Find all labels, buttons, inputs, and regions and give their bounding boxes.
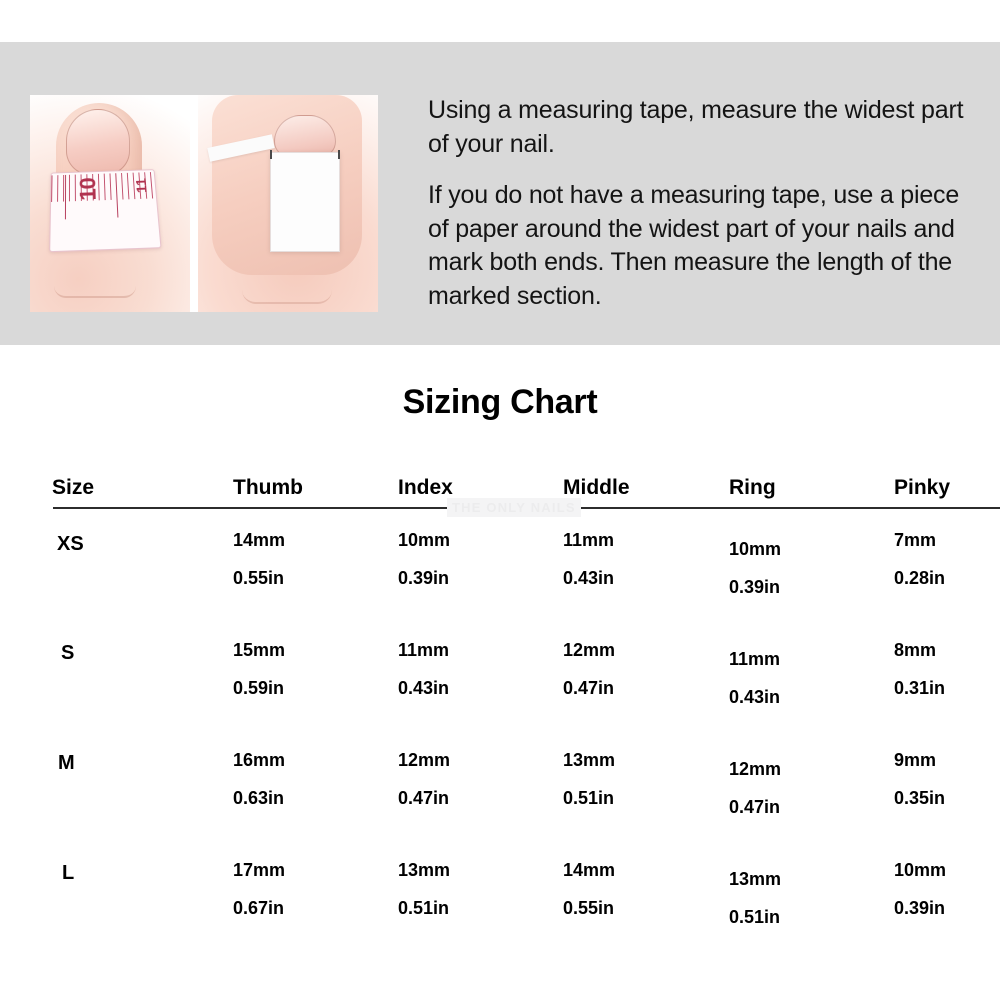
column-header-index: Index (398, 476, 453, 500)
cell-xs-middle-in: 0.43in (563, 568, 614, 589)
column-header-size: Size (52, 476, 94, 500)
cell-s-thumb-in: 0.59in (233, 678, 284, 699)
cell-m-middle-in: 0.51in (563, 788, 614, 809)
paper-mark-right (338, 150, 340, 159)
cell-m-thumb-mm: 16mm (233, 750, 285, 771)
cell-l-pinky-in: 0.39in (894, 898, 945, 919)
cell-m-ring-mm: 12mm (729, 759, 781, 780)
column-header-pinky: Pinky (894, 476, 950, 500)
row-label-m: M (58, 752, 75, 775)
cell-l-ring-in: 0.51in (729, 907, 780, 928)
knuckle-crease (54, 286, 136, 298)
tape-number-secondary-label: 11 (133, 178, 151, 194)
cell-m-index-in: 0.47in (398, 788, 449, 809)
column-header-thumb: Thumb (233, 476, 303, 500)
cell-s-middle-in: 0.47in (563, 678, 614, 699)
photo-right-panel-paper (198, 95, 378, 312)
tape-number-label: 10 (75, 178, 102, 201)
cell-s-ring-in: 0.43in (729, 687, 780, 708)
cell-m-index-mm: 12mm (398, 750, 450, 771)
cell-xs-index-mm: 10mm (398, 530, 450, 551)
cell-l-thumb-mm: 17mm (233, 860, 285, 881)
tape-major-tick (65, 175, 66, 219)
cell-s-thumb-mm: 15mm (233, 640, 285, 661)
finger-nail-shape (274, 115, 336, 157)
photo-left-panel-tape: 10 11 (30, 95, 190, 312)
measuring-tape-icon: 10 11 (49, 169, 161, 252)
cell-l-index-mm: 13mm (398, 860, 450, 881)
cell-l-thumb-in: 0.67in (233, 898, 284, 919)
photo-panel-divider (190, 95, 198, 312)
cell-l-middle-mm: 14mm (563, 860, 615, 881)
cell-xs-ring-mm: 10mm (729, 539, 781, 560)
instruction-paragraph-1: Using a measuring tape, measure the wide… (428, 94, 980, 161)
cell-xs-pinky-mm: 7mm (894, 530, 936, 551)
cell-s-pinky-mm: 8mm (894, 640, 936, 661)
cell-s-ring-mm: 11mm (729, 649, 780, 670)
nail-shape (66, 109, 130, 175)
sizing-table: Size Thumb Index Middle Ring Pinky XS 14… (0, 460, 1000, 940)
cell-xs-thumb-in: 0.55in (233, 568, 284, 589)
cell-l-index-in: 0.51in (398, 898, 449, 919)
row-label-s: S (61, 642, 74, 665)
column-header-ring: Ring (729, 476, 776, 500)
cell-m-thumb-in: 0.63in (233, 788, 284, 809)
cell-m-pinky-mm: 9mm (894, 750, 936, 771)
cell-l-pinky-mm: 10mm (894, 860, 946, 881)
page-title: Sizing Chart (0, 383, 1000, 422)
paper-mark-left (270, 150, 272, 159)
cell-s-middle-mm: 12mm (563, 640, 615, 661)
cell-s-index-mm: 11mm (398, 640, 449, 661)
cell-m-pinky-in: 0.35in (894, 788, 945, 809)
cell-l-middle-in: 0.55in (563, 898, 614, 919)
cell-s-index-in: 0.43in (398, 678, 449, 699)
paper-strip-icon (270, 152, 340, 252)
measuring-instruction-photo: 10 11 (30, 95, 378, 312)
column-header-middle: Middle (563, 476, 630, 500)
cell-s-pinky-in: 0.31in (894, 678, 945, 699)
instruction-text-block: Using a measuring tape, measure the wide… (428, 94, 980, 313)
cell-xs-middle-mm: 11mm (563, 530, 614, 551)
row-label-xs: XS (57, 533, 84, 556)
cell-l-ring-mm: 13mm (729, 869, 781, 890)
cell-xs-pinky-in: 0.28in (894, 568, 945, 589)
cell-xs-index-in: 0.39in (398, 568, 449, 589)
cell-m-middle-mm: 13mm (563, 750, 615, 771)
cell-xs-thumb-mm: 14mm (233, 530, 285, 551)
knuckle-crease (242, 290, 332, 304)
cell-m-ring-in: 0.47in (729, 797, 780, 818)
instruction-paragraph-2: If you do not have a measuring tape, use… (428, 179, 980, 313)
watermark: THE ONLY NAILS (447, 498, 581, 517)
cell-xs-ring-in: 0.39in (729, 577, 780, 598)
instruction-banner: 10 11 Using a measuring tape, measure th… (0, 42, 1000, 345)
row-label-l: L (62, 862, 74, 885)
